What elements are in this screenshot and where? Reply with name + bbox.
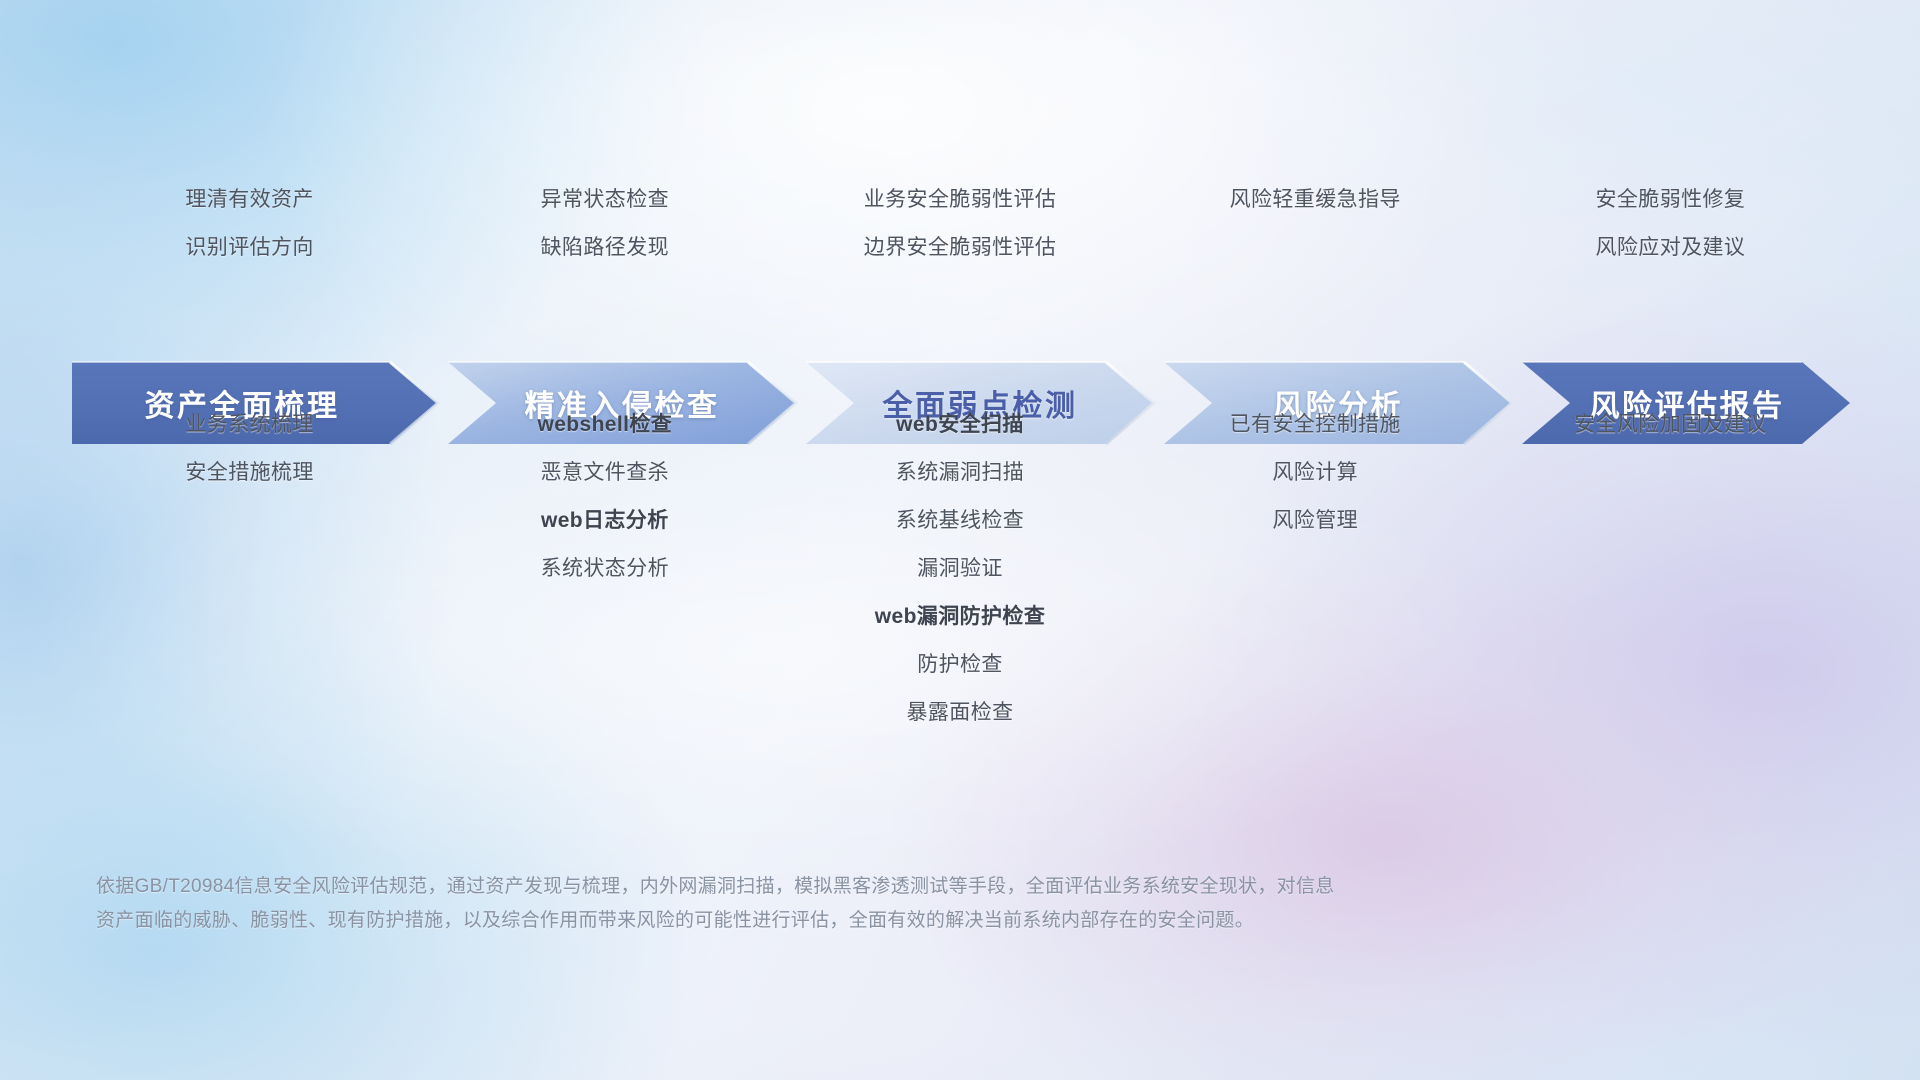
top-item: 安全脆弱性修复 [1596,180,1746,220]
top-item: 缺陷路径发现 [541,228,669,268]
footer-line-2: 资产面临的威胁、脆弱性、现有防护措施，以及综合作用而带来风险的可能性进行评估，全… [96,904,1616,938]
bottom-items-row: 业务系统梳理 安全措施梳理 webshell检查 恶意文件查杀 web日志分析 … [72,405,1848,705]
top-item: 理清有效资产 [185,180,313,220]
footer-description: 依据GB/T20984信息安全风险评估规范，通过资产发现与梳理，内外网漏洞扫描，… [96,870,1616,938]
bottom-item: 系统基线检查 [896,501,1024,541]
top-item: 风险轻重缓急指导 [1230,180,1401,220]
bottom-item: 系统漏洞扫描 [896,453,1024,493]
bottom-item: web安全扫描 [896,405,1024,445]
top-item: 边界安全脆弱性评估 [864,228,1057,268]
bottom-item: 业务系统梳理 [185,405,313,445]
bottom-item: 风险管理 [1272,501,1358,541]
bottom-items-stage-3: web安全扫描 系统漏洞扫描 系统基线检查 漏洞验证 web漏洞防护检查 防护检… [782,405,1137,705]
bottom-items-stage-1: 业务系统梳理 安全措施梳理 [72,405,427,705]
bottom-item: 系统状态分析 [541,549,669,589]
bottom-item: web日志分析 [541,501,669,541]
top-items-row: 理清有效资产 识别评估方向 异常状态检查 缺陷路径发现 业务安全脆弱性评估 边界… [72,180,1848,290]
bottom-item: 暴露面检查 [907,693,1014,733]
top-items-stage-1: 理清有效资产 识别评估方向 [72,180,427,290]
footer-line-1: 依据GB/T20984信息安全风险评估规范，通过资产发现与梳理，内外网漏洞扫描，… [96,870,1616,904]
top-item: 业务安全脆弱性评估 [864,180,1057,220]
bottom-item: 防护检查 [917,645,1003,685]
bottom-item: webshell检查 [537,405,672,445]
bottom-item: 安全风险加固及建议 [1574,405,1767,445]
bottom-item: 已有安全控制措施 [1230,405,1401,445]
top-item: 异常状态检查 [541,180,669,220]
top-item: 风险应对及建议 [1596,228,1746,268]
bottom-item: 风险计算 [1272,453,1358,493]
bottom-item: 安全措施梳理 [185,453,313,493]
top-items-stage-3: 业务安全脆弱性评估 边界安全脆弱性评估 [782,180,1137,290]
bottom-items-stage-5: 安全风险加固及建议 [1493,405,1848,705]
top-items-stage-4: 风险轻重缓急指导 [1138,180,1493,290]
bottom-items-stage-2: webshell检查 恶意文件查杀 web日志分析 系统状态分析 [427,405,782,705]
top-items-stage-5: 安全脆弱性修复 风险应对及建议 [1493,180,1848,290]
top-items-stage-2: 异常状态检查 缺陷路径发现 [427,180,782,290]
bottom-item: 恶意文件查杀 [541,453,669,493]
top-item: 识别评估方向 [185,228,313,268]
bottom-item: web漏洞防护检查 [875,597,1045,637]
bottom-items-stage-4: 已有安全控制措施 风险计算 风险管理 [1138,405,1493,705]
bottom-item: 漏洞验证 [917,549,1003,589]
